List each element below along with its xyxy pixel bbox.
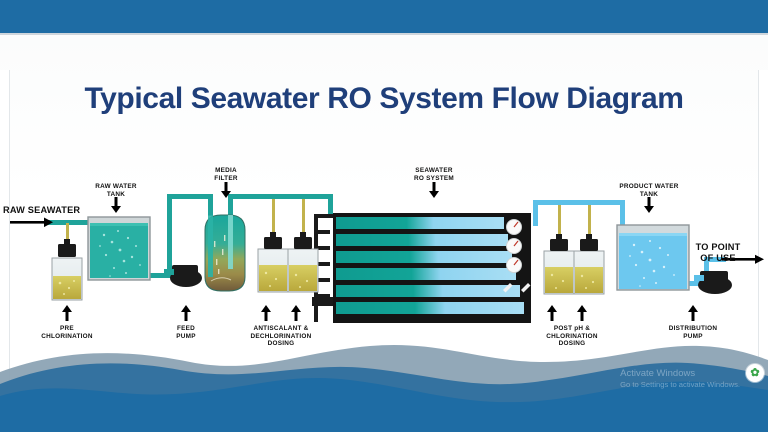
ro-membrane-vessel — [336, 268, 516, 280]
pipe-feed-pump-riser — [167, 194, 172, 278]
arrow-up-antiscalant — [261, 305, 271, 321]
presentation-screen: Typical Seawater RO System Flow Diagram — [0, 0, 768, 432]
post-chlorination-dosing-pump — [580, 239, 598, 251]
activate-windows-watermark: Activate Windows Go to Settings to activ… — [620, 368, 740, 390]
arrow-up-feed-pump — [181, 305, 191, 321]
post-ph-dosing-tank — [544, 234, 574, 294]
arrow-down-ro-system — [429, 182, 439, 198]
dechlorination-dosing-tank — [288, 232, 318, 292]
pressure-gauge — [507, 258, 522, 273]
post-ph-dosing-pump — [550, 239, 568, 251]
pipe-ro-feed-drop — [328, 194, 333, 216]
window-top-bar — [0, 0, 768, 33]
watermark-line-1: Activate Windows — [620, 368, 740, 380]
pressure-gauge — [507, 220, 522, 235]
antiscalant-dosing-tank — [258, 232, 288, 292]
arrow-raw-seawater-in — [10, 218, 53, 228]
label-to-point-of-use: TO POINT OF USE — [693, 242, 743, 264]
arrow-up-pre-chlorination — [62, 305, 72, 321]
pre-chlorination-dosing-tank — [52, 239, 82, 300]
seawater-ro-flow-diagram: RAW SEAWATER TO POINT OF USE RAW WATER T… — [0, 145, 768, 360]
post-chlorination-dosing-tank — [574, 234, 604, 294]
pipe-antiscalant-riser — [272, 199, 275, 235]
label-media-filter: MEDIA FILTER — [214, 167, 237, 182]
pipe-post-chlorination-riser — [588, 205, 591, 237]
pipe-media-filter-inlet-drop — [208, 194, 213, 216]
label-seawater-ro-system: SEAWATER RO SYSTEM — [414, 167, 454, 182]
arrow-down-product-water-tank — [644, 197, 654, 213]
pipe-filter-to-ro-header — [228, 194, 333, 199]
product-water-tank-vessel — [617, 225, 689, 290]
pipe-dechlorination-riser — [302, 199, 305, 235]
arrow-up-post-ph — [547, 305, 557, 321]
label-product-water-tank: PRODUCT WATER TANK — [619, 183, 678, 198]
arrow-up-dechlorination — [291, 305, 301, 321]
antiscalant-dosing-pump — [264, 237, 282, 249]
ro-skid — [333, 213, 531, 323]
ro-membrane-vessel — [336, 217, 504, 229]
ro-membrane-vessel — [336, 251, 512, 263]
brand-logo-icon: ✿ — [750, 368, 759, 379]
pipe-permeate-header — [533, 200, 625, 205]
distribution-pump-unit — [694, 271, 732, 294]
pressure-gauge — [507, 239, 522, 254]
media-filter-vessel — [205, 215, 245, 291]
label-raw-water-tank: RAW WATER TANK — [95, 183, 137, 198]
ro-membrane-vessel — [336, 234, 508, 246]
arrow-up-distribution-pump — [688, 305, 698, 321]
arrow-up-post-chlorination — [577, 305, 587, 321]
pipe-post-ph-riser — [558, 205, 561, 237]
watermark-line-2: Go to Settings to activate Windows. — [620, 380, 740, 390]
wave-base-band — [0, 410, 768, 432]
ro-pressure-gauges[interactable] — [507, 220, 522, 273]
diagram-svg — [0, 145, 768, 360]
dechlorination-dosing-pump — [294, 237, 312, 249]
label-raw-seawater: RAW SEAWATER — [3, 205, 80, 216]
arrow-down-raw-water-tank — [111, 197, 121, 213]
ro-membrane-vessel — [336, 302, 524, 314]
pre-chlorination-dosing-pump — [58, 244, 76, 257]
ro-membrane-vessel — [336, 285, 520, 297]
raw-water-tank-vessel — [88, 217, 150, 280]
slide-canvas: Typical Seawater RO System Flow Diagram — [0, 35, 768, 432]
pipe-to-media-filter — [167, 194, 213, 199]
page-title: Typical Seawater RO System Flow Diagram — [0, 82, 768, 116]
brand-logo-badge: ✿ — [746, 364, 764, 382]
